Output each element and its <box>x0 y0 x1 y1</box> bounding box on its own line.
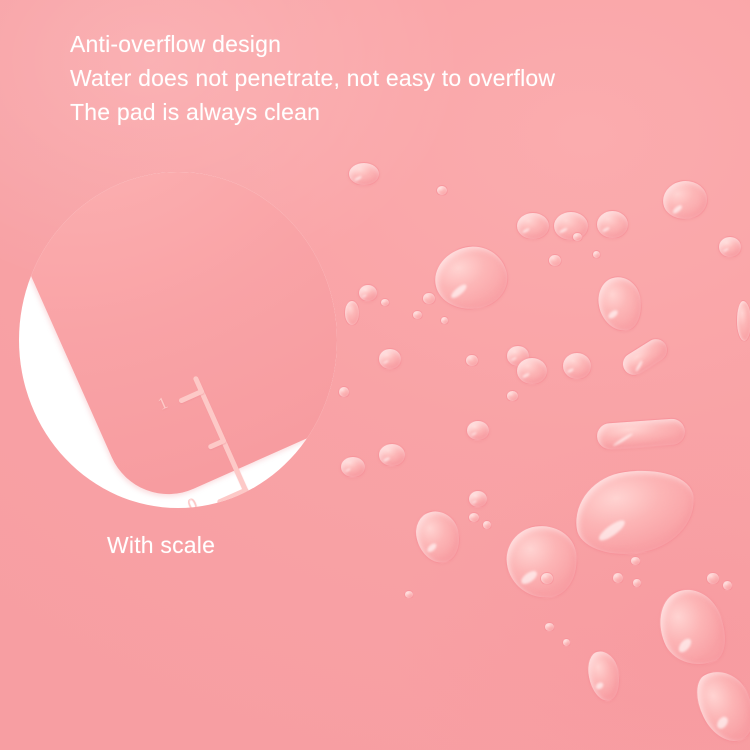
caption-line-1: Anti-overflow design <box>70 27 710 61</box>
with-scale-label: With scale <box>107 530 215 560</box>
vertical-ruler-digit-top: 1 <box>155 393 171 415</box>
vertical-ruler-digit-bottom: 0 <box>185 494 201 508</box>
scale-detail-magnifier: 1 0 0 1 <box>19 172 337 508</box>
caption-line-3: The pad is always clean <box>70 95 710 129</box>
caption-block: Anti-overflow design Water does not pene… <box>70 27 710 129</box>
product-marketing-image: Anti-overflow design Water does not pene… <box>0 0 750 750</box>
magnifier-inner: 1 0 0 1 <box>19 172 337 508</box>
caption-line-2: Water does not penetrate, not easy to ov… <box>70 61 710 95</box>
